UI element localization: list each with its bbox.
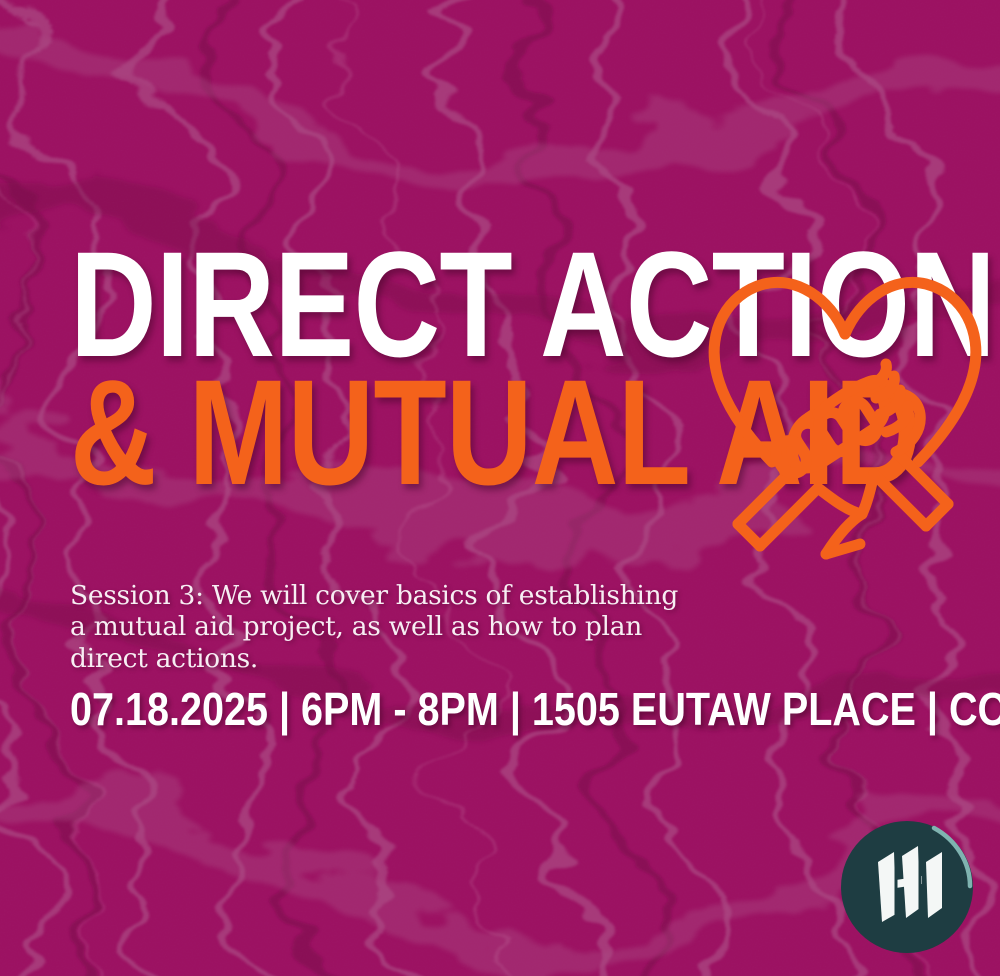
event-flyer-poster: DIRECT ACTION & MUTUAL AID Session 3: We…	[0, 0, 1000, 976]
headline-line-2: & MUTUAL AID	[70, 372, 582, 492]
headline-block: DIRECT ACTION & MUTUAL AID	[70, 244, 710, 492]
headline-line-1: DIRECT ACTION	[70, 244, 582, 364]
heart-clasped-hands-icon	[700, 262, 990, 562]
session-description: Session 3: We will cover basics of estab…	[70, 580, 850, 674]
brand-monogram-icon[interactable]	[838, 818, 976, 956]
event-details-line: 07.18.2025 | 6PM - 8PM | 1505 EUTAW PLAC…	[70, 686, 1000, 732]
